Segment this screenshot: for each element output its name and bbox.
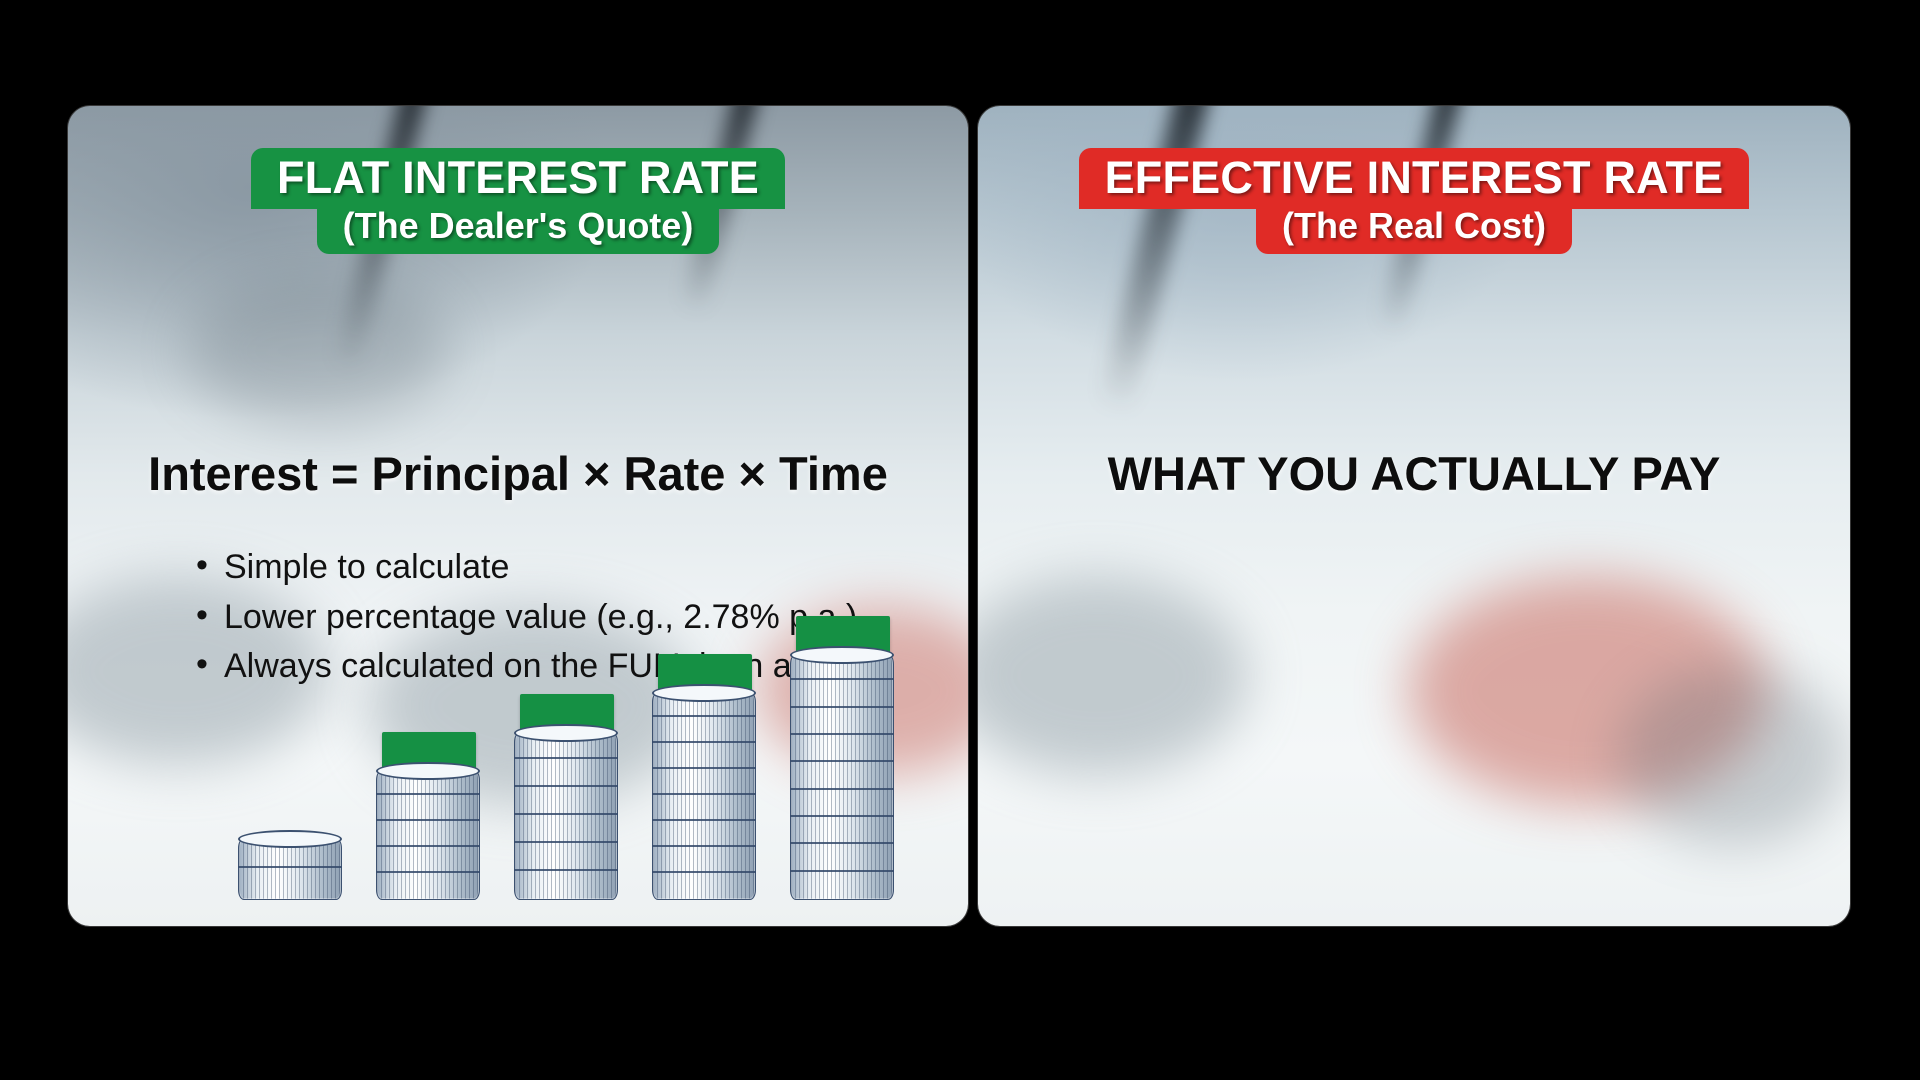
coin-edge: [652, 741, 756, 743]
coin-top-face: [376, 762, 480, 780]
badge-title: EFFECTIVE INTEREST RATE: [1079, 148, 1750, 209]
coin-top-face: [238, 830, 342, 848]
coin-edge: [652, 793, 756, 795]
coin-edge: [376, 793, 480, 795]
coin-edge: [514, 841, 618, 843]
coin-edge: [790, 678, 894, 680]
badge-subtitle: (The Real Cost): [1256, 205, 1572, 254]
badge-title: FLAT INTEREST RATE: [251, 148, 785, 209]
coins: [652, 692, 756, 900]
coin-edge: [790, 870, 894, 872]
coin-edge: [376, 871, 480, 873]
coin-edge: [376, 819, 480, 821]
coin-top-face: [514, 724, 618, 742]
coin-edge: [514, 785, 618, 787]
coin-edge: [652, 715, 756, 717]
panel-flat-interest-rate: FLAT INTEREST RATE (The Dealer's Quote) …: [68, 106, 968, 926]
coins: [238, 838, 342, 900]
panel-effective-interest-rate: EFFECTIVE INTEREST RATE (The Real Cost) …: [978, 106, 1850, 926]
coins: [376, 770, 480, 900]
coin-edge: [790, 788, 894, 790]
coin-edge: [790, 706, 894, 708]
coin-edge: [652, 767, 756, 769]
coins: [790, 654, 894, 900]
coin-edge: [514, 757, 618, 759]
coin-edge: [652, 819, 756, 821]
badge-subtitle: (The Dealer's Quote): [317, 205, 720, 254]
infographic-canvas: FLAT INTEREST RATE (The Dealer's Quote) …: [0, 0, 1920, 1080]
coin-edge: [514, 869, 618, 871]
coin-edge: [790, 815, 894, 817]
headline-statement: WHAT YOU ACTUALLY PAY: [978, 446, 1850, 501]
coins: [514, 732, 618, 900]
coin-stacks-illustration: [238, 580, 928, 900]
coin-edge: [790, 733, 894, 735]
coin-edge: [790, 842, 894, 844]
coin-edge: [790, 760, 894, 762]
coin-edge: [652, 871, 756, 873]
badge-effective-interest-rate: EFFECTIVE INTEREST RATE (The Real Cost): [978, 148, 1850, 254]
badge-flat-interest-rate: FLAT INTEREST RATE (The Dealer's Quote): [68, 148, 968, 254]
coin-edge: [376, 845, 480, 847]
coin-edge: [238, 866, 342, 868]
coin-edge: [514, 813, 618, 815]
coin-top-face: [790, 646, 894, 664]
coin-edge: [652, 845, 756, 847]
coin-top-face: [652, 684, 756, 702]
headline-formula: Interest = Principal × Rate × Time: [68, 446, 968, 501]
